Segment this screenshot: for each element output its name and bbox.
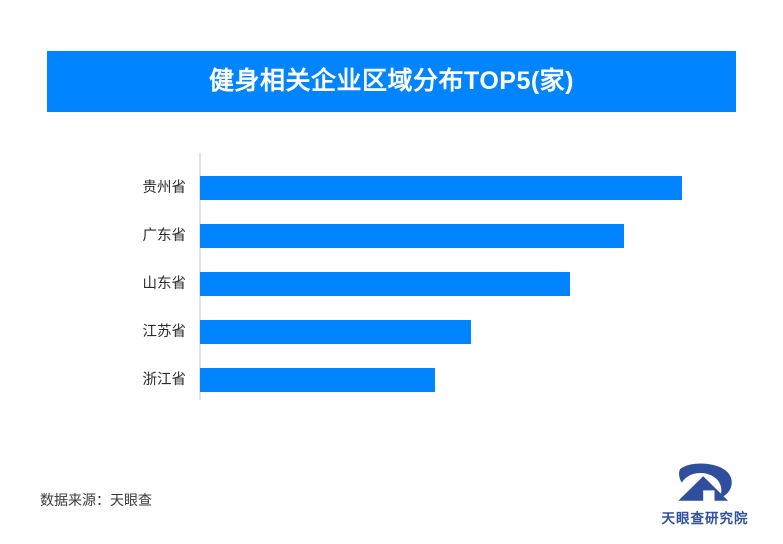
bar-category-label-3: 江苏省 [60,320,186,344]
bar-4 [200,368,435,392]
bar-category-label-4: 浙江省 [60,368,186,392]
table-row: 江苏省 [0,320,783,344]
bar-3 [200,320,471,344]
brand-logo: 天眼查研究院 [652,463,758,531]
title-banner: 健身相关企业区域分布TOP5(家) [47,51,736,112]
bar-category-label-2: 山东省 [60,272,186,296]
data-source-note: 数据来源：天眼查 [40,490,152,510]
bar-1 [200,224,624,248]
bar-category-label-1: 广东省 [60,224,186,248]
bar-category-label-0: 贵州省 [60,176,186,200]
page-title: 健身相关企业区域分布TOP5(家) [209,69,574,94]
bar-chart: 贵州省 广东省 山东省 江苏省 浙江省 [0,153,783,403]
bar-0 [200,176,682,200]
table-row: 广东省 [0,224,783,248]
table-row: 浙江省 [0,368,783,392]
eagle-emblem-icon [676,463,734,505]
table-row: 山东省 [0,272,783,296]
infographic-canvas: 健身相关企业区域分布TOP5(家) 贵州省 广东省 山东省 江苏省 浙江省 数据… [0,0,783,544]
bar-2 [200,272,570,296]
brand-name-label: 天眼查研究院 [662,507,749,527]
table-row: 贵州省 [0,176,783,200]
